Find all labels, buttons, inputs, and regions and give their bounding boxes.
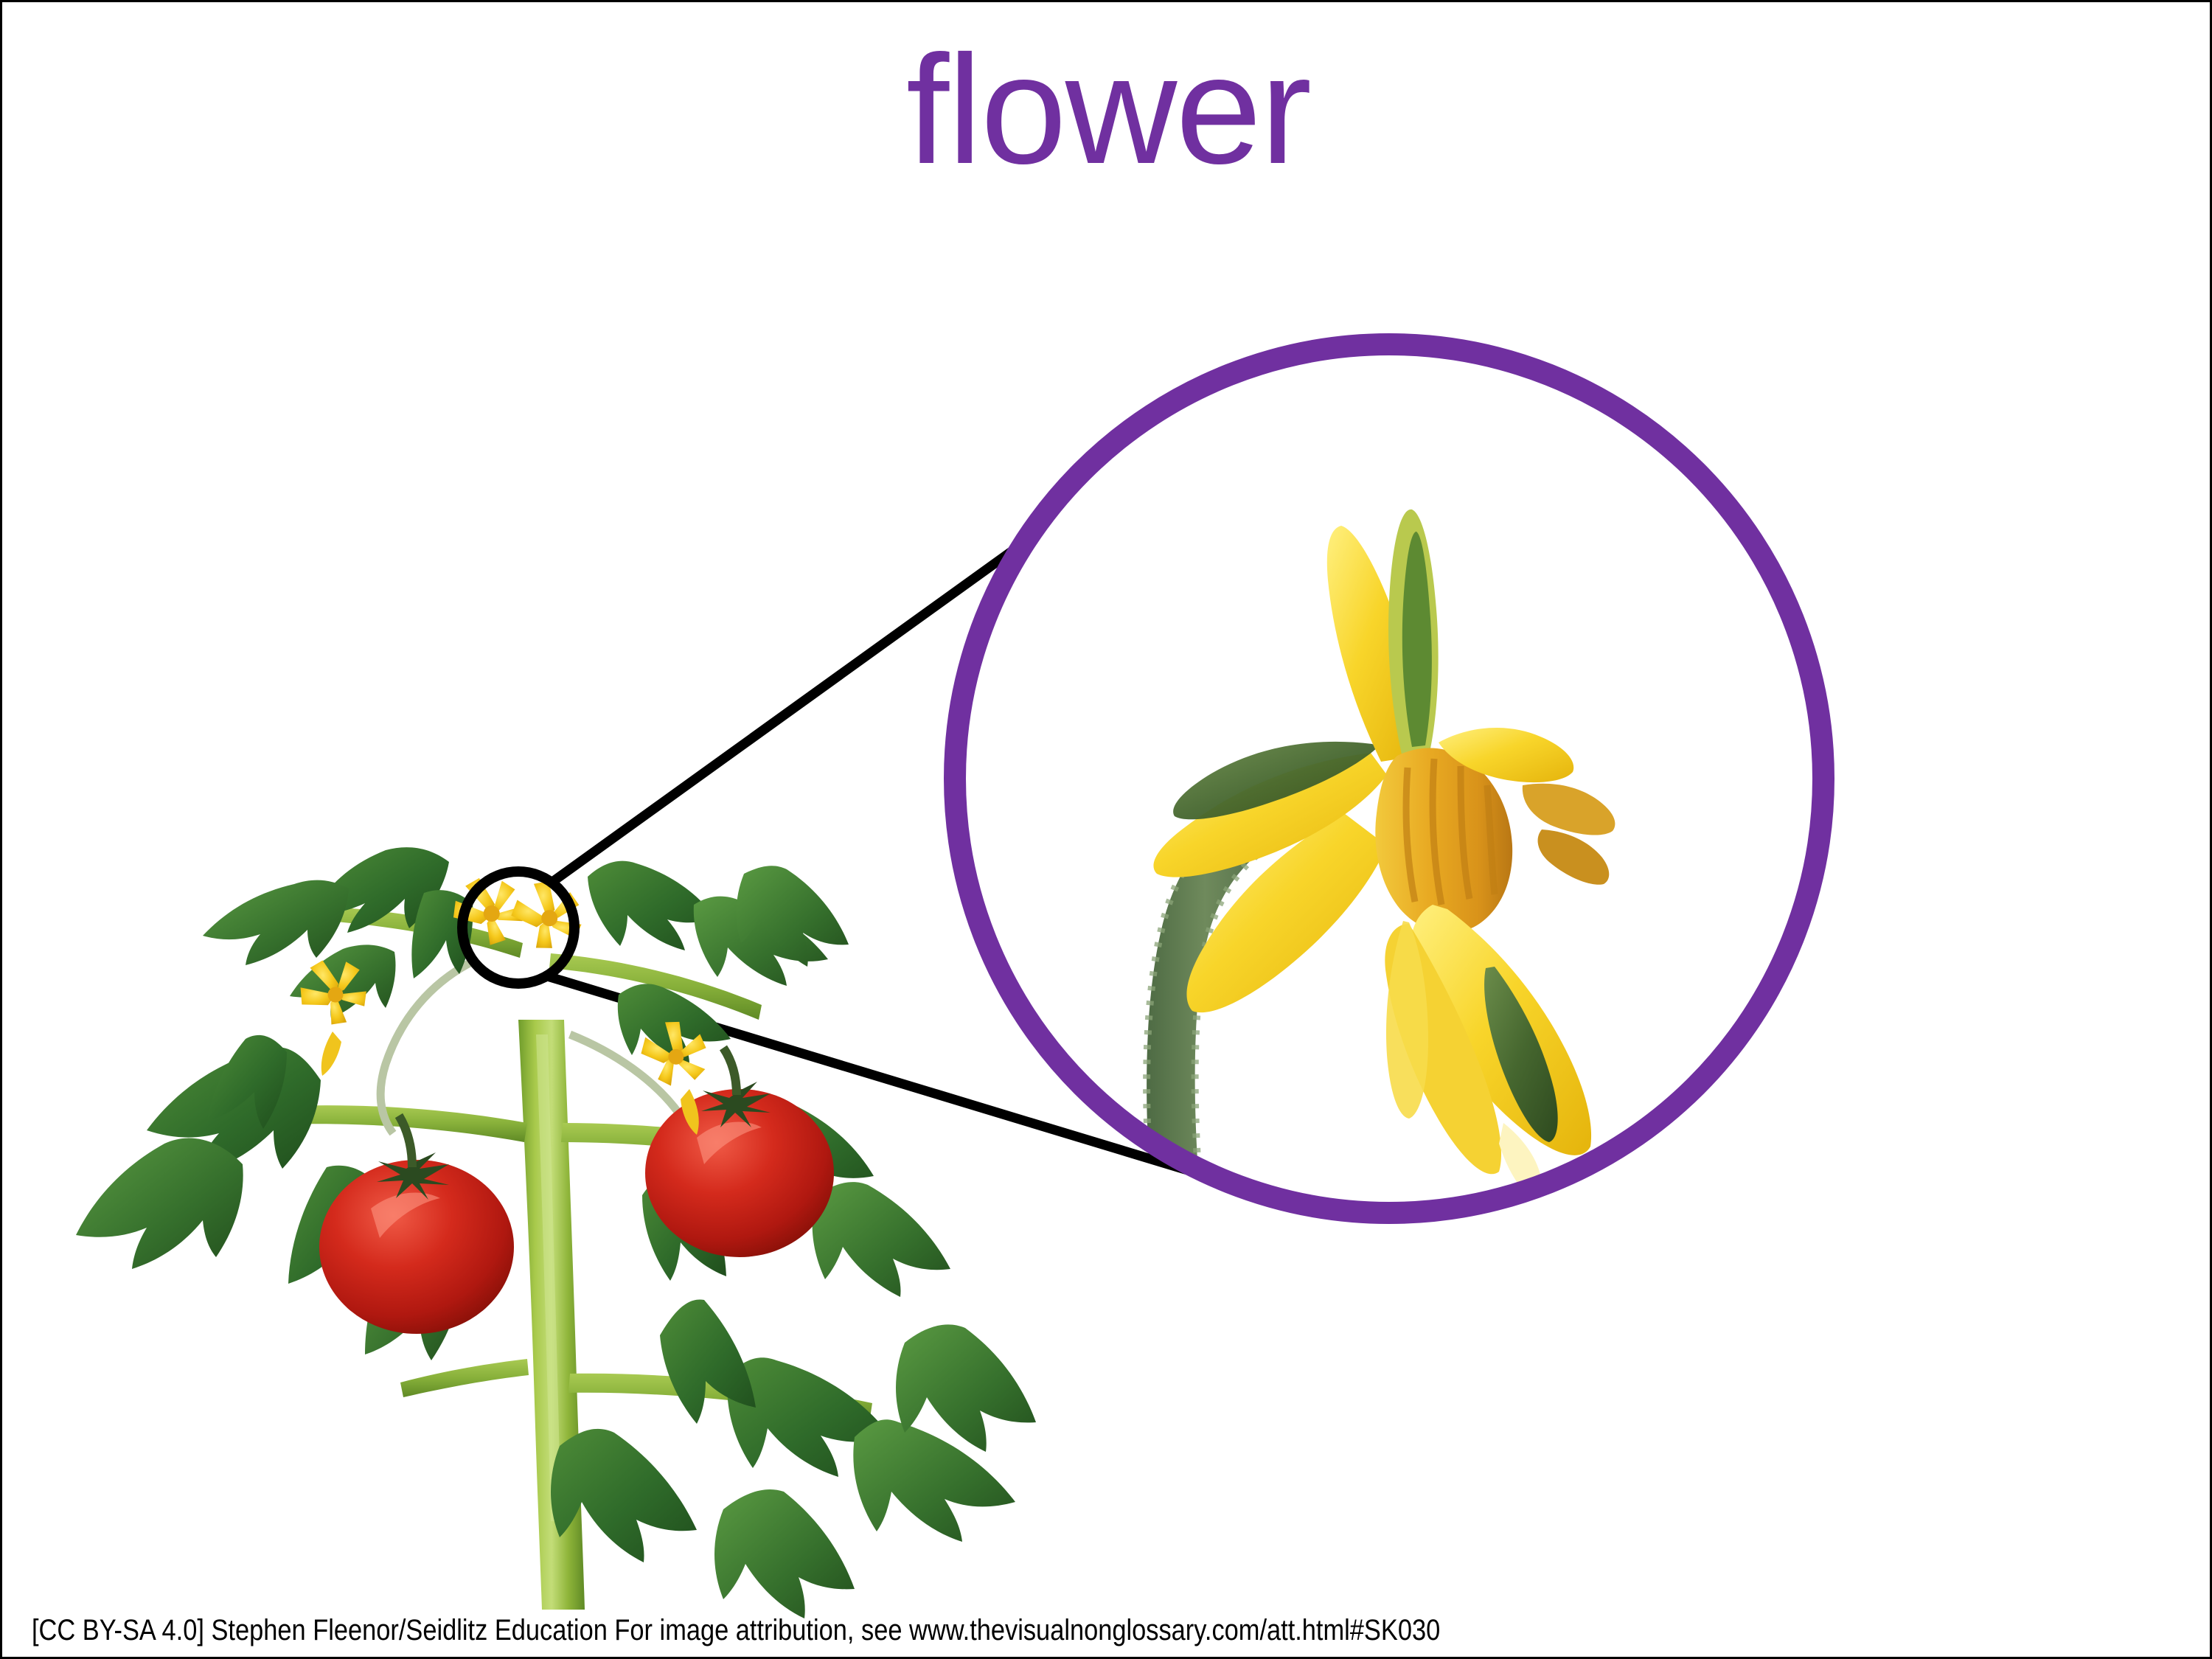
leaf xyxy=(76,1138,243,1269)
leaf xyxy=(853,1419,1015,1542)
glossary-card: flower xyxy=(0,0,2212,1659)
leaf-cluster-lower-right xyxy=(551,1299,1036,1618)
leaf-cluster-top-right xyxy=(588,861,849,1064)
attribution-text: [CC BY-SA 4.0] Stephen Fleenor/Seidlitz … xyxy=(32,1614,1871,1646)
flower-bud xyxy=(321,1032,341,1076)
tomato-fruit-right xyxy=(645,1048,834,1257)
branch-lower-left-stub xyxy=(400,1359,529,1397)
tomato-fruit-left xyxy=(319,1116,514,1334)
leaf xyxy=(813,1182,950,1297)
leaf xyxy=(714,1489,855,1618)
illustration-canvas xyxy=(2,2,2212,1659)
tomato-stalk xyxy=(723,1048,737,1095)
leaf xyxy=(203,880,349,965)
